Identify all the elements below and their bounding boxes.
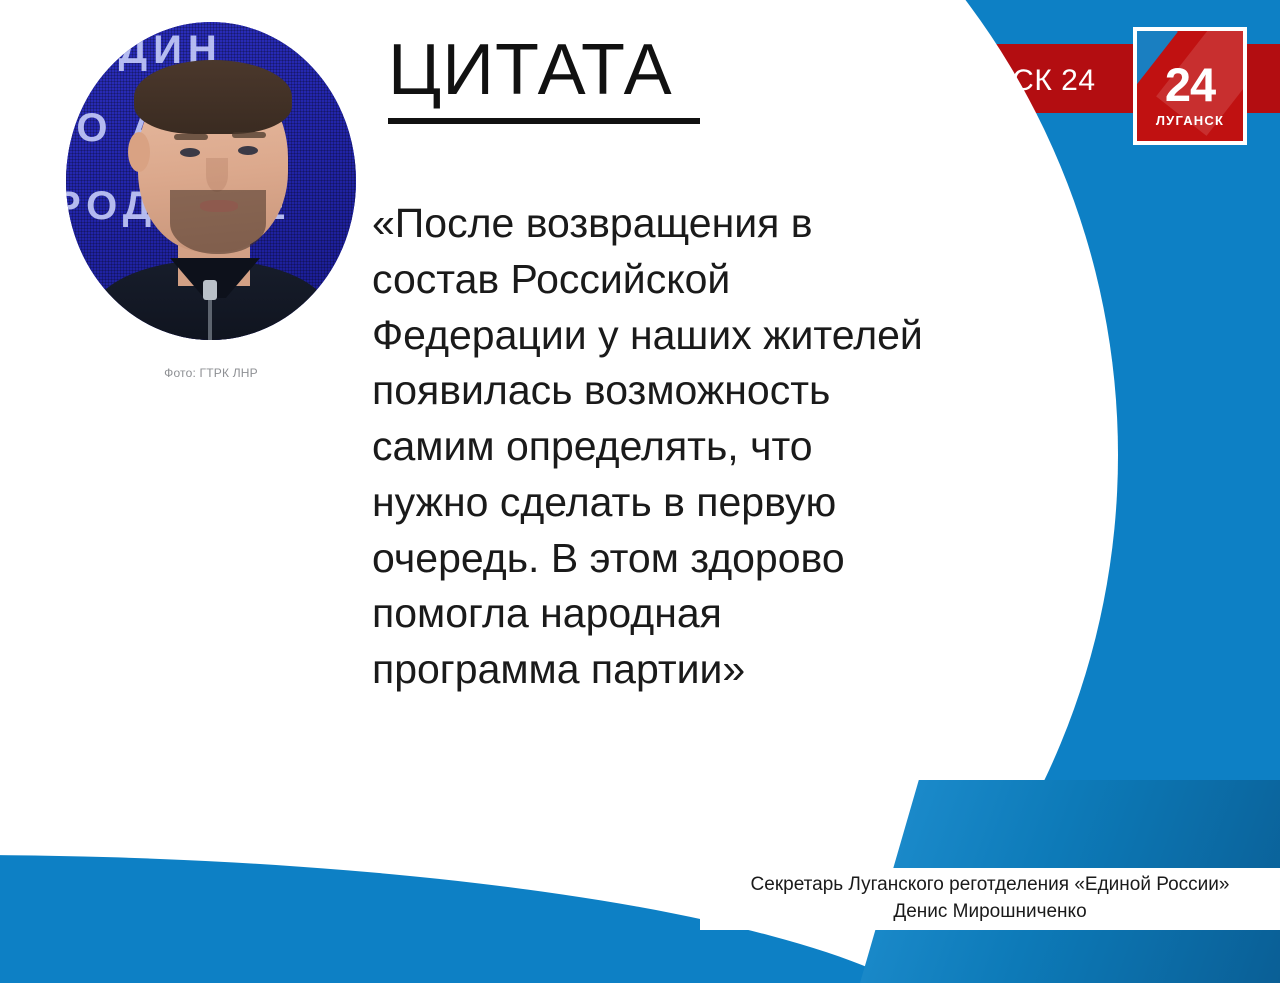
portrait-hair [134, 60, 292, 134]
portrait-ear [128, 132, 150, 172]
portrait-nose [206, 158, 228, 192]
portrait-eyebrow-left [174, 134, 208, 140]
speaker-portrait: ЕДИН КО АР РОД И РЕ [66, 22, 356, 340]
attribution-block: Секретарь Луганского реготделения «Едино… [700, 872, 1280, 926]
portrait-circle: ЕДИН КО АР РОД И РЕ [66, 22, 356, 340]
heading-underline [388, 118, 700, 124]
quote-card: ЛУГАНСК 24 24 ЛУГАНСК ЕДИН КО АР РОД И Р… [0, 0, 1280, 983]
portrait-eye-left [180, 148, 200, 157]
portrait-eye-right [238, 146, 258, 155]
logo-number: 24 [1165, 61, 1215, 108]
heading-block: ЦИТАТА [388, 34, 700, 124]
logo-inner: 24 ЛУГАНСК [1137, 31, 1243, 141]
luhansk-24-logo: 24 ЛУГАНСК [1133, 27, 1247, 145]
photo-credit: Фото: ГТРК ЛНР [66, 366, 356, 380]
attribution-role: Секретарь Луганского реготделения «Едино… [700, 872, 1280, 899]
portrait-eyebrow-right [232, 132, 266, 138]
portrait-zipper-pull [203, 280, 217, 300]
logo-city-label: ЛУГАНСК [1156, 113, 1224, 128]
channel-name: ЛУГАНСК 24 [915, 64, 1096, 98]
page-title: ЦИТАТА [388, 34, 700, 106]
portrait-mouth [200, 200, 238, 212]
quote-text: «После возвращения в состав Российской Ф… [372, 196, 932, 698]
attribution-name: Денис Мирошниченко [700, 899, 1280, 926]
